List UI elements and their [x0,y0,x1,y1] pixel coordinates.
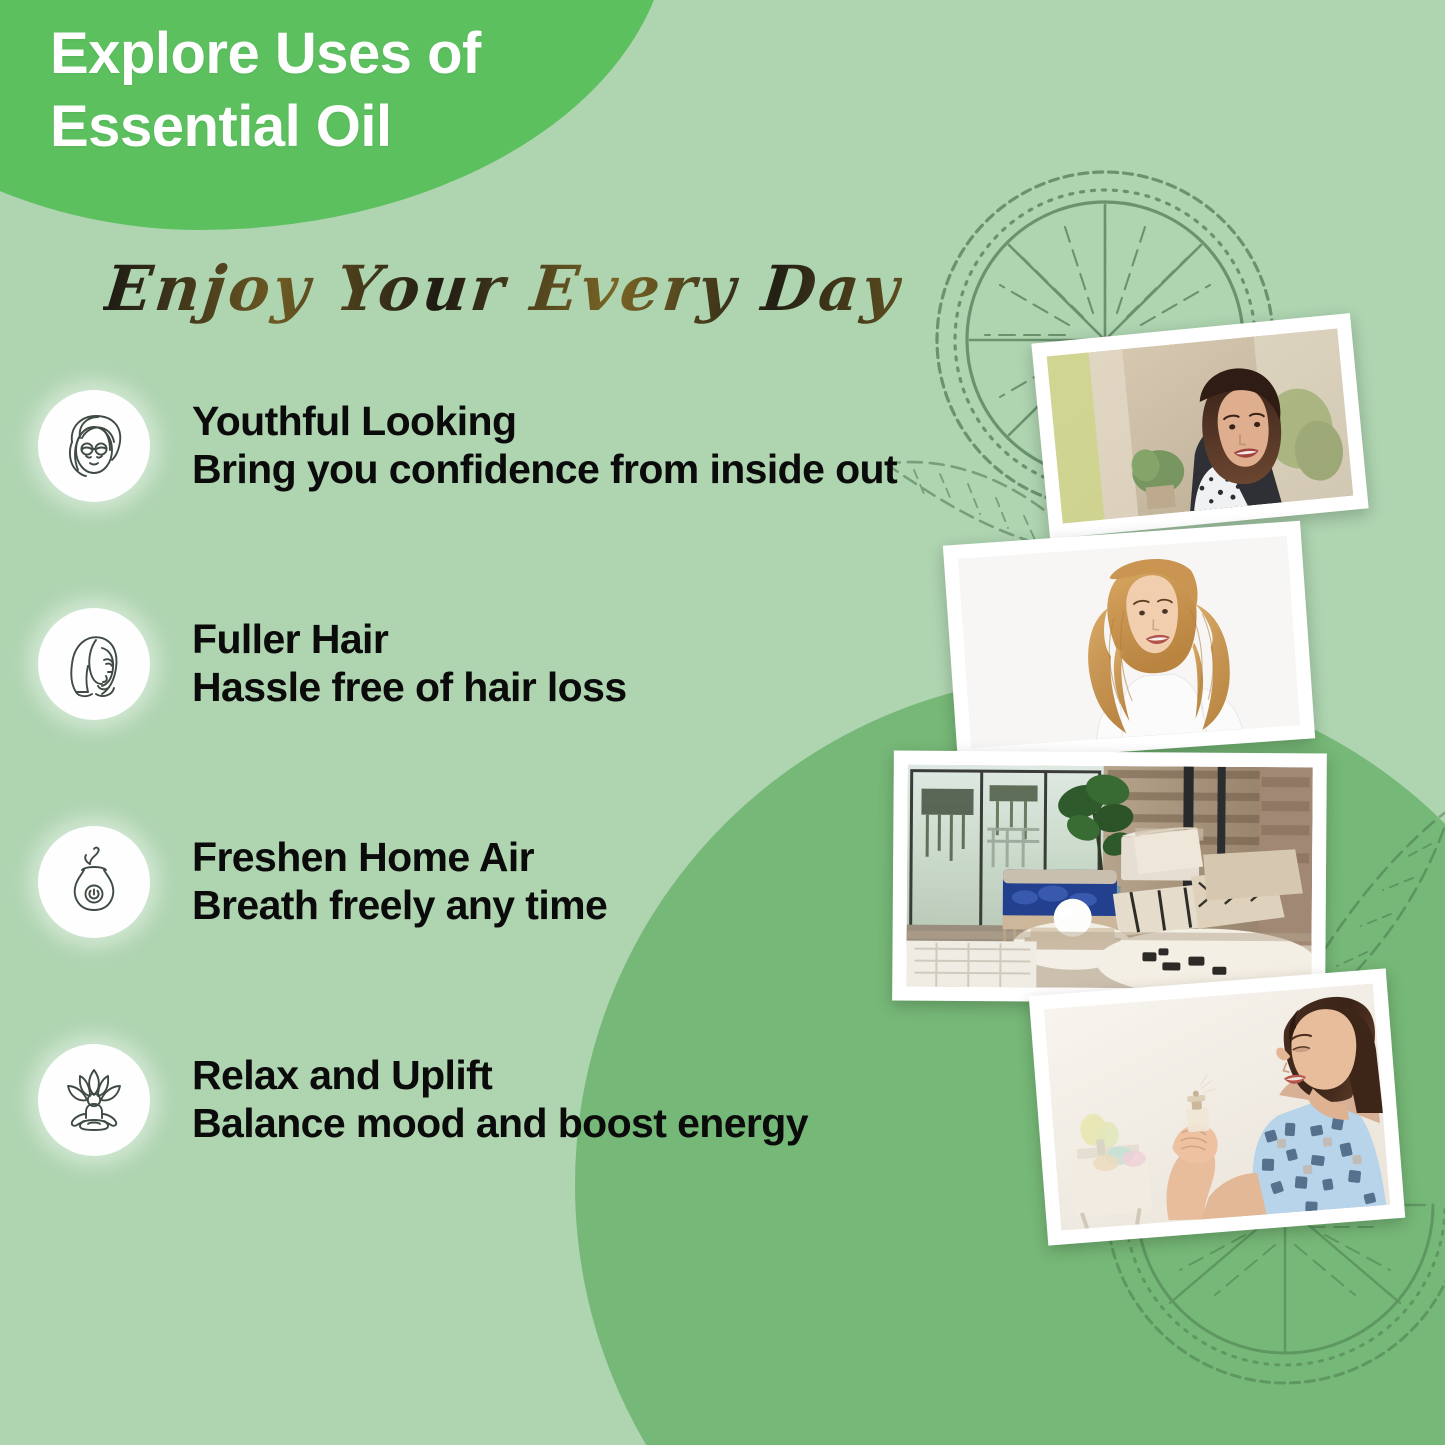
feature-subheading-1: Bring you confidence from inside out [192,446,897,494]
aroma-diffuser-icon [56,844,132,920]
feature-list: Youthful Looking Bring you confidence fr… [0,360,1000,1232]
feature-subheading-2: Hassle free of hair loss [192,664,627,712]
feature-text-3: Freshen Home Air Breath freely any time [192,834,607,929]
feature-text-4: Relax and Uplift Balance mood and boost … [192,1052,808,1147]
feature-row-fuller-hair: Fuller Hair Hassle free of hair loss [0,578,1000,750]
feature-row-youthful-looking: Youthful Looking Bring you confidence fr… [0,360,1000,532]
feature-heading-3: Freshen Home Air [192,834,607,882]
feature-icon-badge-2 [38,608,150,720]
feature-subheading-4: Balance mood and boost energy [192,1100,808,1148]
feature-heading-2: Fuller Hair [192,616,627,664]
feature-icon-badge-4 [38,1044,150,1156]
face-mask-icon [56,408,132,484]
feature-heading-4: Relax and Uplift [192,1052,808,1100]
photo-2-artwork [958,536,1300,749]
photo-1-artwork [1047,328,1354,523]
photo-woman-applying-perfume [1029,968,1406,1245]
photo-smiling-woman-dark-hair [1031,313,1368,539]
feature-text-1: Youthful Looking Bring you confidence fr… [192,398,897,493]
feature-heading-1: Youthful Looking [192,398,897,446]
tagline-script: Enjoy Your Every Day [101,252,905,325]
long-hair-woman-icon [56,626,132,702]
feature-row-relax-and-uplift: Relax and Uplift Balance mood and boost … [0,1014,1000,1186]
feature-row-freshen-home-air: Freshen Home Air Breath freely any time [0,796,1000,968]
feature-icon-badge-3 [38,826,150,938]
poster-canvas: Explore Uses of Essential Oil Enjoy Your… [0,0,1445,1445]
page-title: Explore Uses of Essential Oil [50,18,481,163]
lotus-meditation-icon [56,1062,132,1138]
photo-4-artwork [1044,983,1390,1230]
feature-text-2: Fuller Hair Hassle free of hair loss [192,616,627,711]
feature-icon-badge-1 [38,390,150,502]
feature-subheading-3: Breath freely any time [192,882,607,930]
